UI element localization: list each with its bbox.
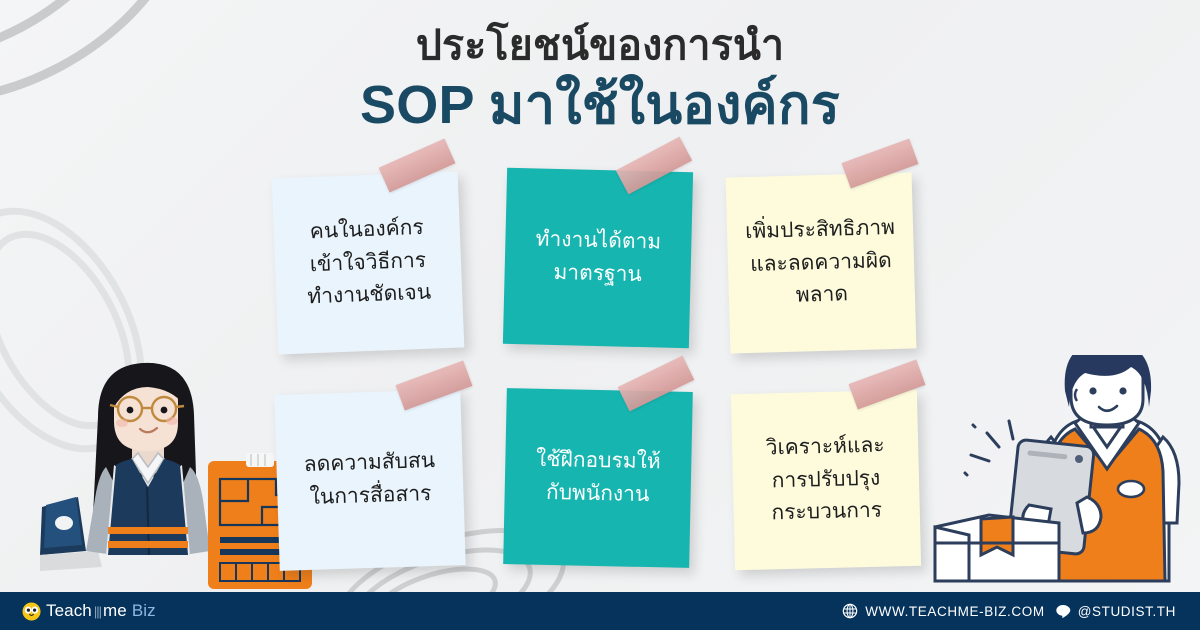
page-title-line1: ประโยชน์ของการนำ — [0, 22, 1200, 69]
benefit-note-3-text: เพิ่มประสิทธิภาพ และลดความผิด พลาด — [735, 212, 907, 314]
benefit-note-1-text: คนในองค์กร เข้าใจวิธีการ ทำงานชัดเจน — [294, 211, 441, 314]
teachme-biz-mascot-icon — [22, 602, 41, 621]
website-link[interactable]: WWW.TEACHME-BIZ.COM — [842, 603, 1044, 619]
globe-icon — [842, 603, 858, 619]
benefit-note-2-text: ทำงานได้ตาม มาตรฐาน — [524, 224, 671, 293]
benefit-note-4-text: ลดความสับสน ในการสื่อสาร — [293, 445, 446, 515]
benefit-note-5[interactable]: ใช้ฝึกอบรมให้ กับพนักงาน — [503, 388, 693, 568]
infographic-canvas: ประโยชน์ของการนำ SOP มาใช้ในองค์กร — [0, 0, 1200, 630]
brand-logo[interactable]: Teach ||| me Biz — [0, 601, 156, 621]
logo-text-biz: Biz — [129, 601, 156, 621]
line-chat-icon — [1055, 603, 1071, 619]
sparkle-icon — [965, 421, 1013, 475]
benefit-note-3[interactable]: เพิ่มประสิทธิภาพ และลดความผิด พลาด — [726, 172, 917, 353]
footer-links: WWW.TEACHME-BIZ.COM @STUDIST.TH — [842, 603, 1200, 619]
logo-separator: ||| — [94, 604, 101, 619]
benefit-note-1[interactable]: คนในองค์กร เข้าใจวิธีการ ทำงานชัดเจน — [272, 171, 465, 354]
footer-bar: Teach ||| me Biz WWW.TEACHME-BIZ.COM @ST… — [0, 592, 1200, 630]
page-title-line2: SOP มาใช้ในองค์กร — [0, 73, 1200, 138]
benefit-note-4[interactable]: ลดความสับสน ในการสื่อสาร — [274, 389, 465, 571]
line-handle: @STUDIST.TH — [1078, 604, 1176, 619]
website-url: WWW.TEACHME-BIZ.COM — [865, 604, 1044, 619]
illustration-woman-with-tablet — [925, 355, 1200, 600]
benefit-note-6-text: วิเคราะห์และ การปรับปรุง กระบวนการ — [755, 429, 896, 530]
benefit-note-5-text: ใช้ฝึกอบรมให้ กับพนักงาน — [525, 444, 671, 512]
logo-text-teach: Teach — [46, 601, 92, 621]
line-link[interactable]: @STUDIST.TH — [1055, 603, 1176, 619]
cardboard-box-icon — [935, 515, 1059, 581]
page-header: ประโยชน์ของการนำ SOP มาใช้ในองค์กร — [0, 22, 1200, 138]
logo-text-me: me — [103, 601, 127, 621]
benefit-note-2[interactable]: ทำงานได้ตาม มาตรฐาน — [503, 168, 693, 348]
benefit-note-6[interactable]: วิเคราะห์และ การปรับปรุง กระบวนการ — [731, 390, 921, 570]
